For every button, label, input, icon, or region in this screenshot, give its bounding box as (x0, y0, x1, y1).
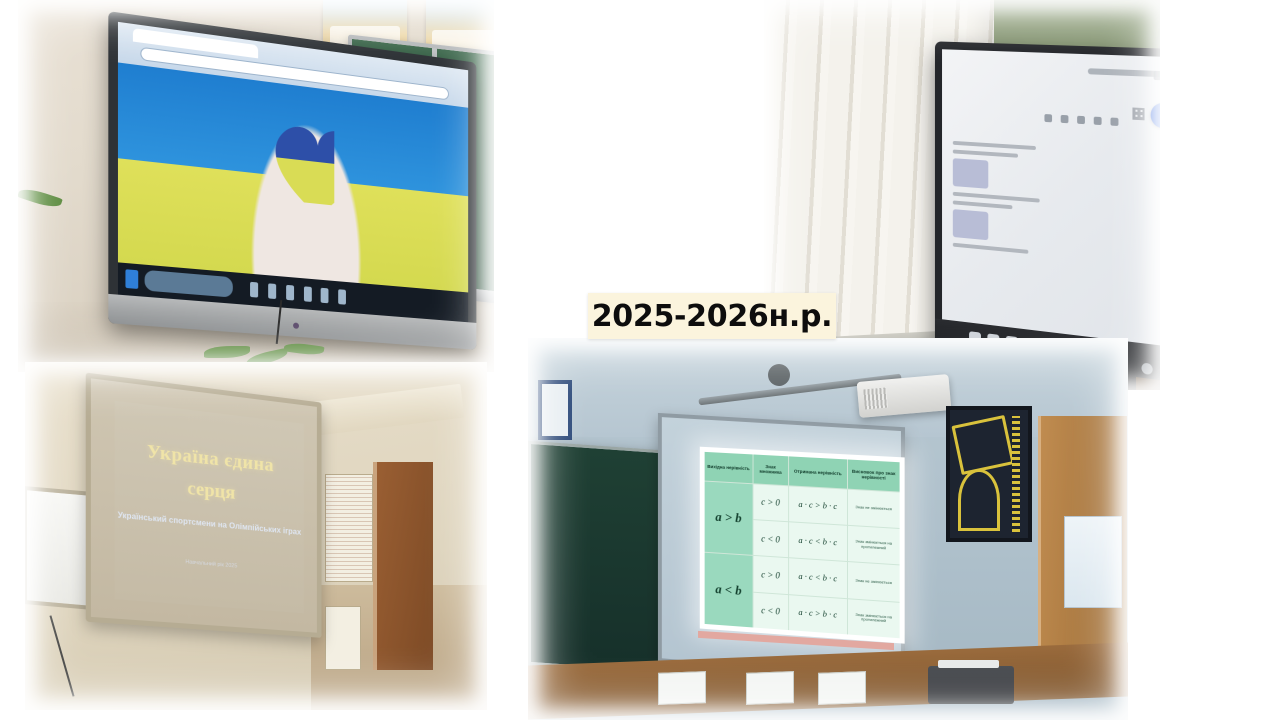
table-header-cell: Знак множника (753, 454, 787, 485)
star-icon[interactable] (1154, 71, 1160, 81)
content-thumbnail-2 (953, 209, 988, 240)
start-button-icon[interactable] (126, 270, 139, 289)
table-result: a · c > b · c (789, 486, 847, 525)
browser-toolbar[interactable] (1154, 71, 1160, 83)
slide-title-line-1: Україна єдина (147, 442, 274, 478)
panel-screen[interactable] (118, 22, 468, 322)
projected-slide: Україна єдина серця Український спортсме… (115, 400, 304, 613)
page-toolbar-icons[interactable] (1044, 114, 1118, 126)
posted-paper-sheet (818, 671, 866, 705)
table-row-lead: a < b (705, 553, 753, 627)
geometry-tools-display (946, 406, 1032, 542)
printer (928, 666, 1014, 704)
chalkboard (528, 441, 676, 675)
toolbar-icon-4[interactable] (1094, 117, 1102, 125)
camera-icon (293, 322, 299, 328)
apps-grid-icon[interactable] (1132, 107, 1144, 120)
table-result: a · c < b · c (789, 522, 847, 561)
classroom-door[interactable] (373, 462, 433, 670)
triangle-ruler-icon (952, 415, 1015, 475)
sign-in-button[interactable] (1151, 102, 1160, 132)
table-condition: c > 0 (753, 484, 787, 521)
table-condition: c > 0 (753, 556, 787, 593)
taskbar-icon-3[interactable] (286, 285, 294, 301)
framed-picture (538, 380, 572, 440)
wall-chart-small (325, 606, 361, 670)
back-icon[interactable] (1141, 362, 1152, 375)
table-note: Знак змінюється на протилежний (848, 526, 900, 565)
projected-inequality-table: Вихідна нерівність Знак множника Отриман… (700, 447, 905, 644)
taskbar-icon-6[interactable] (338, 289, 346, 305)
display-screen[interactable] (942, 49, 1160, 354)
taskbar-icon-4[interactable] (303, 286, 311, 302)
inequality-table-grid: Вихідна нерівність Знак множника Отриман… (705, 452, 900, 638)
posted-paper-sheet (746, 671, 794, 705)
browser-address-text (1088, 68, 1160, 77)
photo-top-left[interactable] (18, 0, 494, 372)
photo-bottom-left[interactable]: Україна єдина серця Український спортсме… (25, 362, 487, 710)
table-header-cell: Отримана нерівність (789, 456, 847, 488)
protractor-icon (958, 469, 1000, 531)
table-header-cell: Вихідна нерівність (705, 452, 753, 483)
taskbar-icon-2[interactable] (268, 283, 276, 299)
interactive-flat-panel[interactable] (108, 11, 476, 350)
slide-title-line-2: серця (187, 478, 235, 505)
slide-subtitle: Український спортсмени на Олімпійських і… (118, 510, 301, 536)
collage-canvas: Україна єдина серця Український спортсме… (0, 0, 1280, 720)
projection-screen: Україна єдина серця Український спортсме… (86, 373, 322, 638)
wall-chart-table (325, 474, 373, 582)
toolbar-icon-3[interactable] (1077, 116, 1085, 124)
table-header-cell: Висновок про знак нерівності (848, 459, 900, 491)
projector-wall-mount (768, 364, 790, 386)
posted-paper-sheet (658, 671, 706, 705)
table-result: a · c > b · c (789, 595, 847, 634)
toolbar-icon-2[interactable] (1061, 115, 1069, 123)
toolbar-icon-5[interactable] (1111, 118, 1119, 127)
photo-bottom-center[interactable]: Вихідна нерівність Знак множника Отриман… (528, 338, 1128, 720)
taskbar-icon-5[interactable] (321, 287, 329, 303)
page-content-column (953, 136, 1047, 309)
door-poster (1064, 516, 1122, 608)
table-note: Знак не змінюється (848, 490, 900, 529)
table-condition: c < 0 (753, 592, 787, 630)
slide-footer: Навчальний рік 2025 (185, 559, 237, 569)
content-thumbnail-1 (953, 158, 988, 188)
table-note: Знак змінюється на протилежний (848, 599, 900, 638)
table-result: a · c < b · c (789, 559, 847, 598)
taskbar-search-input[interactable] (144, 270, 232, 297)
table-condition: c < 0 (753, 520, 787, 557)
taskbar-icon-1[interactable] (250, 282, 258, 298)
table-note: Знак не змінюється (848, 562, 900, 601)
school-year-text: 2025-2026н.р. (592, 299, 833, 334)
ruler-strip-icon (1012, 416, 1021, 531)
table-row-lead: a > b (705, 481, 753, 555)
toolbar-icon-1[interactable] (1044, 114, 1052, 122)
school-year-label: 2025-2026н.р. (588, 293, 836, 339)
